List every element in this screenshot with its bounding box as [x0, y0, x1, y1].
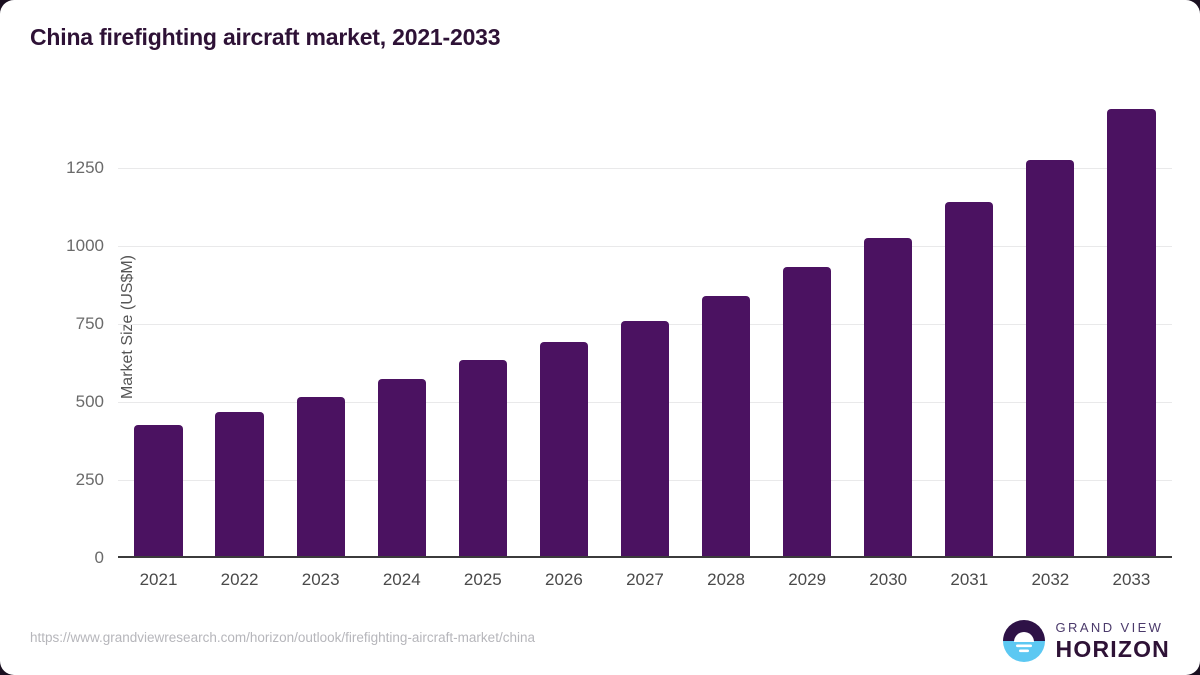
x-axis-tick-label: 2029	[788, 570, 826, 590]
bar-group[interactable]: 2031	[945, 202, 993, 556]
bar[interactable]	[1026, 160, 1074, 556]
x-axis-line	[118, 556, 1172, 558]
bar[interactable]	[783, 267, 831, 556]
x-axis-tick-label: 2033	[1113, 570, 1151, 590]
bar-group[interactable]: 2033	[1107, 109, 1155, 556]
bar-group[interactable]: 2028	[702, 296, 750, 557]
gridline	[118, 246, 1172, 247]
x-axis-tick-label: 2032	[1031, 570, 1069, 590]
logo-text-bottom: HORIZON	[1056, 638, 1170, 661]
bar-group[interactable]: 2024	[378, 379, 426, 556]
bar[interactable]	[621, 321, 669, 556]
bar-group[interactable]: 2022	[215, 412, 263, 556]
horizon-mark-icon	[1003, 620, 1045, 662]
brand-logo[interactable]: GRAND VIEW HORIZON	[1003, 620, 1170, 662]
bar[interactable]	[297, 397, 345, 556]
x-axis-tick-label: 2026	[545, 570, 583, 590]
source-url[interactable]: https://www.grandviewresearch.com/horizo…	[30, 630, 535, 645]
x-axis-tick-label: 2021	[140, 570, 178, 590]
x-axis-tick-label: 2025	[464, 570, 502, 590]
bar[interactable]	[215, 412, 263, 556]
logo-text-top: GRAND VIEW	[1056, 621, 1170, 634]
y-axis-tick-label: 750	[76, 314, 104, 334]
bar-group[interactable]: 2030	[864, 238, 912, 556]
page-title: China firefighting aircraft market, 2021…	[30, 24, 500, 51]
bar-group[interactable]: 2023	[297, 397, 345, 556]
x-axis-tick-label: 2031	[950, 570, 988, 590]
bar-group[interactable]: 2026	[540, 342, 588, 556]
bar[interactable]	[945, 202, 993, 556]
y-axis-tick-label: 1000	[66, 236, 104, 256]
y-axis-tick-label: 0	[95, 548, 104, 568]
chart-canvas: China firefighting aircraft market, 2021…	[0, 0, 1200, 675]
y-axis-tick-label: 500	[76, 392, 104, 412]
y-axis-title: Market Size (US$M)	[119, 254, 137, 398]
gridline	[118, 168, 1172, 169]
x-axis-tick-label: 2030	[869, 570, 907, 590]
x-axis-tick-label: 2024	[383, 570, 421, 590]
bar-group[interactable]: 2021	[134, 425, 182, 556]
x-axis-tick-label: 2023	[302, 570, 340, 590]
bar-group[interactable]: 2032	[1026, 160, 1074, 556]
bar[interactable]	[702, 296, 750, 557]
bar-group[interactable]: 2029	[783, 267, 831, 556]
bar[interactable]	[864, 238, 912, 556]
y-axis-tick-label: 1250	[66, 158, 104, 178]
bar[interactable]	[134, 425, 182, 556]
bar[interactable]	[1107, 109, 1155, 556]
bar[interactable]	[459, 360, 507, 556]
plot-area: Market Size (US$M) 025050075010001250 20…	[118, 95, 1172, 558]
bar[interactable]	[378, 379, 426, 556]
x-axis-tick-label: 2022	[221, 570, 259, 590]
bar-group[interactable]: 2025	[459, 360, 507, 556]
y-axis-tick-label: 250	[76, 470, 104, 490]
x-axis-tick-label: 2028	[707, 570, 745, 590]
bar-group[interactable]: 2027	[621, 321, 669, 556]
x-axis-tick-label: 2027	[626, 570, 664, 590]
logo-wordmark: GRAND VIEW HORIZON	[1056, 621, 1170, 661]
bar[interactable]	[540, 342, 588, 556]
